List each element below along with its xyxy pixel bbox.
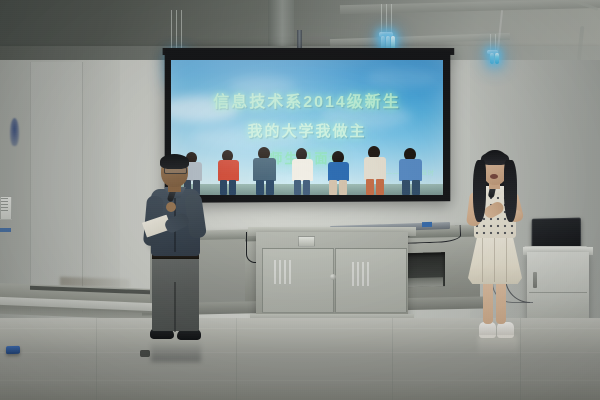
slide-title-line-1: 信息技术系2014级新生 [171,88,443,112]
slide-title-line-2: 我的大学我做主 [171,120,443,141]
floor-dark-object [140,350,150,357]
lectern-latch [298,236,315,247]
female-presenter-shoe-right [497,322,514,338]
lectern-vent-right [352,262,372,286]
female-presenter-hair-right [504,160,517,222]
female-presenter-reflection [478,336,518,356]
wall-outlet-slots [1,198,8,212]
lectern-vent-left [274,260,294,284]
lectern-door-knob[interactable] [330,274,336,280]
wall-blue-mark [10,118,19,146]
ceiling-beam-vertical [268,0,294,52]
wall-outlet-blue-strip [0,228,11,232]
lectern-door-left[interactable] [262,248,334,313]
floor-blue-object [6,346,20,354]
female-presenter-leg-right [496,280,506,324]
female-presenter-hair-left [473,160,486,222]
side-cabinet [527,252,589,324]
female-presenter-leg-left [483,280,493,324]
male-presenter-hair [160,154,189,169]
photograph-scene: 信息技术系2014级新生 我的大学我做主 师生见面会 ——青春正当时 [0,0,600,400]
side-cabinet-seam [529,292,587,293]
male-presenter-reflection [151,340,201,362]
hanging-light-right [487,34,499,64]
female-presenter [462,148,528,344]
female-presenter-shoe-left [479,322,496,338]
male-presenter-trouser-seam [174,282,176,332]
female-presenter-mouth [490,174,498,179]
female-presenter-skirt [468,234,522,284]
male-presenter-hand [166,202,176,212]
side-cabinet-handle[interactable] [533,272,537,288]
male-presenter [139,156,213,348]
